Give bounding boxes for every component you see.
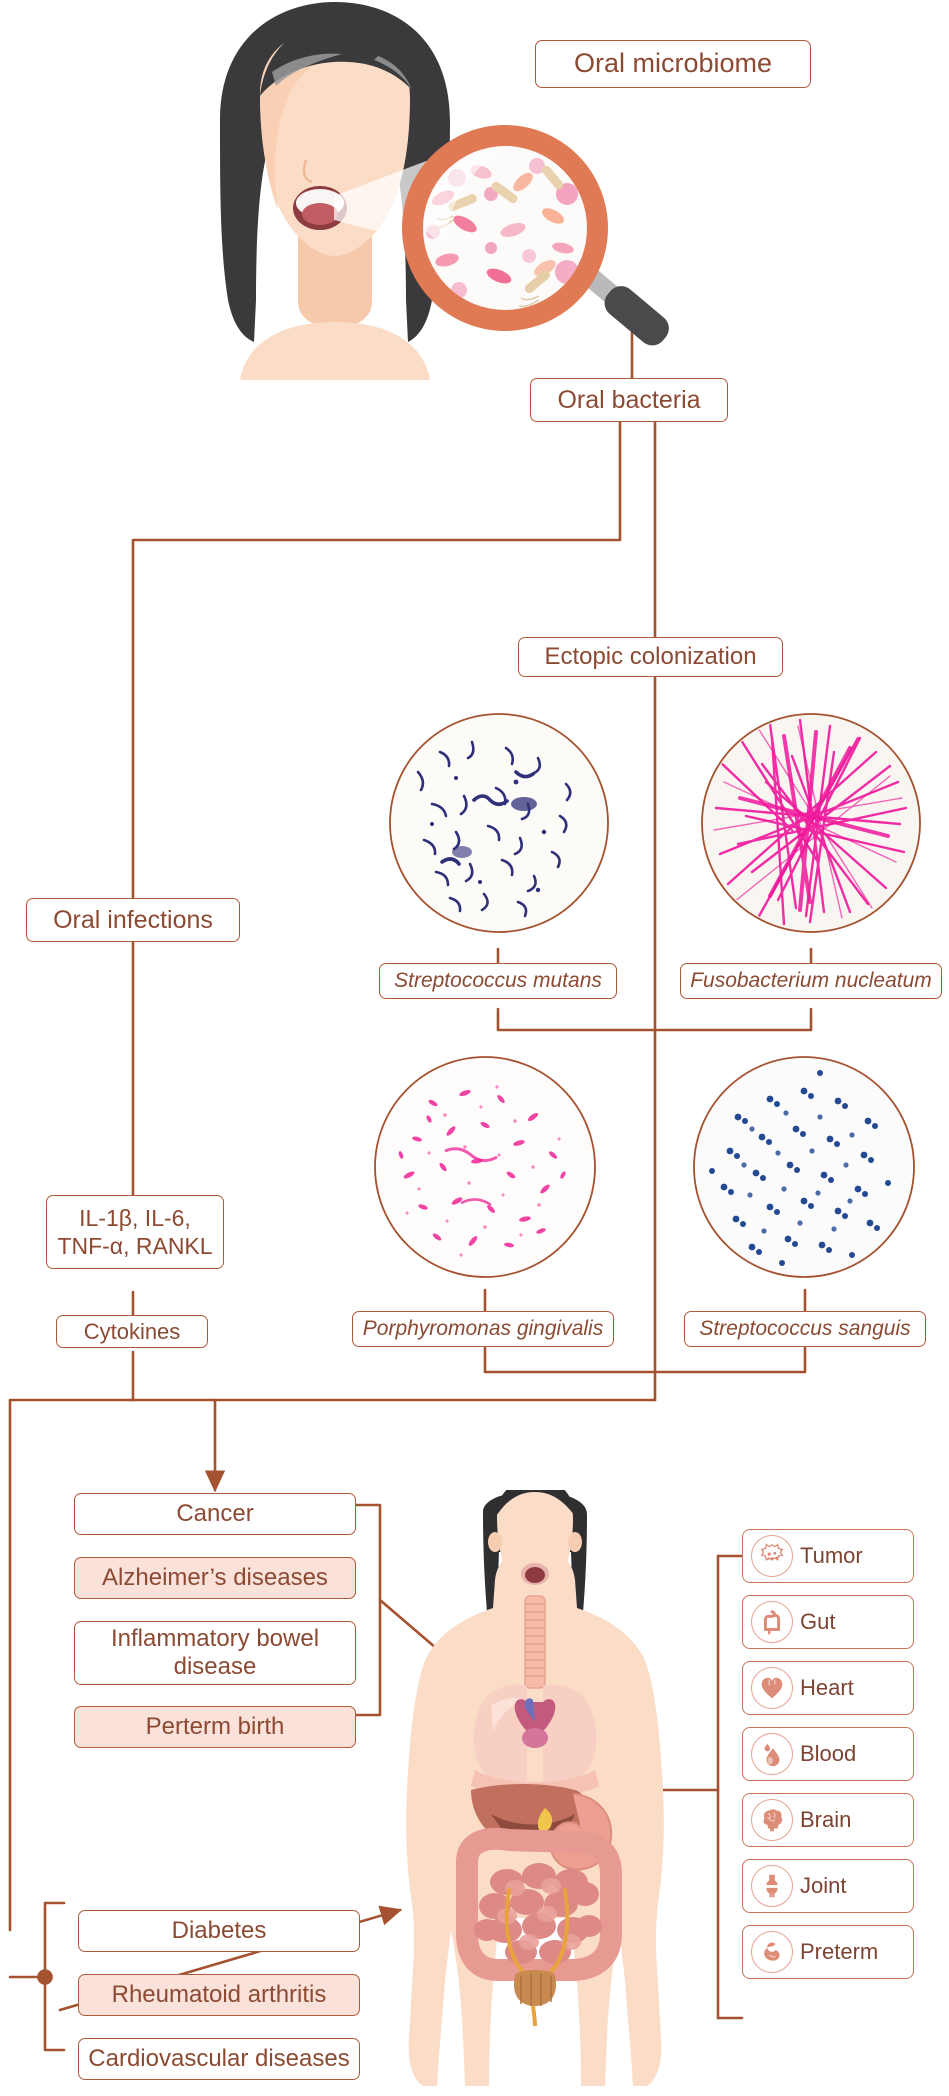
micrograph-streptococcus-sanguis bbox=[692, 1055, 916, 1279]
node-ectopic-colonization[interactable]: Ectopic colonization bbox=[518, 637, 783, 677]
tumor-icon bbox=[751, 1535, 793, 1577]
diagram-canvas: Oral microbiome Oral bacteria Ectopic co… bbox=[0, 0, 949, 2096]
organ-label: Joint bbox=[800, 1873, 846, 1899]
node-cytokines[interactable]: Cytokines bbox=[56, 1315, 208, 1348]
disease-cancer[interactable]: Cancer bbox=[74, 1493, 356, 1535]
organ-label: Blood bbox=[800, 1741, 856, 1767]
heart-icon bbox=[751, 1667, 793, 1709]
organ-chip-tumor[interactable]: Tumor bbox=[742, 1529, 914, 1583]
disease-inflammatory-bowel[interactable]: Inflammatory bowel disease bbox=[74, 1621, 356, 1685]
organ-label: Brain bbox=[800, 1807, 851, 1833]
organ-chip-brain[interactable]: Brain bbox=[742, 1793, 914, 1847]
node-cytokine-mediators[interactable]: IL-1β, IL-6, TNF-α, RANKL bbox=[46, 1195, 224, 1269]
brain-icon bbox=[751, 1799, 793, 1841]
female-body-anatomy-illustration bbox=[375, 1490, 695, 2096]
disease-rheumatoid-arthritis[interactable]: Rheumatoid arthritis bbox=[78, 1974, 360, 2016]
joint-icon bbox=[751, 1865, 793, 1907]
organ-label: Gut bbox=[800, 1609, 835, 1635]
node-oral-infections[interactable]: Oral infections bbox=[26, 898, 240, 942]
label-streptococcus-sanguis[interactable]: Streptococcus sanguis bbox=[684, 1311, 926, 1347]
label-porphyromonas-gingivalis[interactable]: Porphyromonas gingivalis bbox=[352, 1311, 614, 1347]
organ-label: Tumor bbox=[800, 1543, 863, 1569]
cytokine-line-2: TNF-α, RANKL bbox=[57, 1233, 212, 1259]
node-oral-microbiome[interactable]: Oral microbiome bbox=[535, 40, 811, 88]
organ-chip-preterm[interactable]: Preterm bbox=[742, 1925, 914, 1979]
magnifier-icon bbox=[395, 120, 695, 350]
organ-label: Preterm bbox=[800, 1939, 878, 1965]
organ-chip-blood[interactable]: Blood bbox=[742, 1727, 914, 1781]
label-fusobacterium-nucleatum[interactable]: Fusobacterium nucleatum bbox=[680, 963, 942, 999]
label-streptococcus-mutans[interactable]: Streptococcus mutans bbox=[379, 963, 617, 999]
organ-chip-gut[interactable]: Gut bbox=[742, 1595, 914, 1649]
micrograph-porphyromonas-gingivalis bbox=[373, 1055, 597, 1279]
disease-preterm-birth[interactable]: Perterm birth bbox=[74, 1706, 356, 1748]
organ-chip-heart[interactable]: Heart bbox=[742, 1661, 914, 1715]
organ-chip-joint[interactable]: Joint bbox=[742, 1859, 914, 1913]
blood-drop-icon bbox=[751, 1733, 793, 1775]
micrograph-fusobacterium-nucleatum bbox=[700, 712, 922, 934]
micrograph-streptococcus-mutans bbox=[388, 712, 610, 934]
organ-label: Heart bbox=[800, 1675, 854, 1701]
node-oral-bacteria[interactable]: Oral bacteria bbox=[530, 378, 728, 422]
cytokine-line-1: IL-1β, IL-6, bbox=[79, 1205, 191, 1231]
disease-cardiovascular[interactable]: Cardiovascular diseases bbox=[78, 2038, 360, 2080]
disease-diabetes[interactable]: Diabetes bbox=[78, 1910, 360, 1952]
gut-icon bbox=[751, 1601, 793, 1643]
disease-alzheimers[interactable]: Alzheimer’s diseases bbox=[74, 1557, 356, 1599]
fetus-icon bbox=[751, 1931, 793, 1973]
